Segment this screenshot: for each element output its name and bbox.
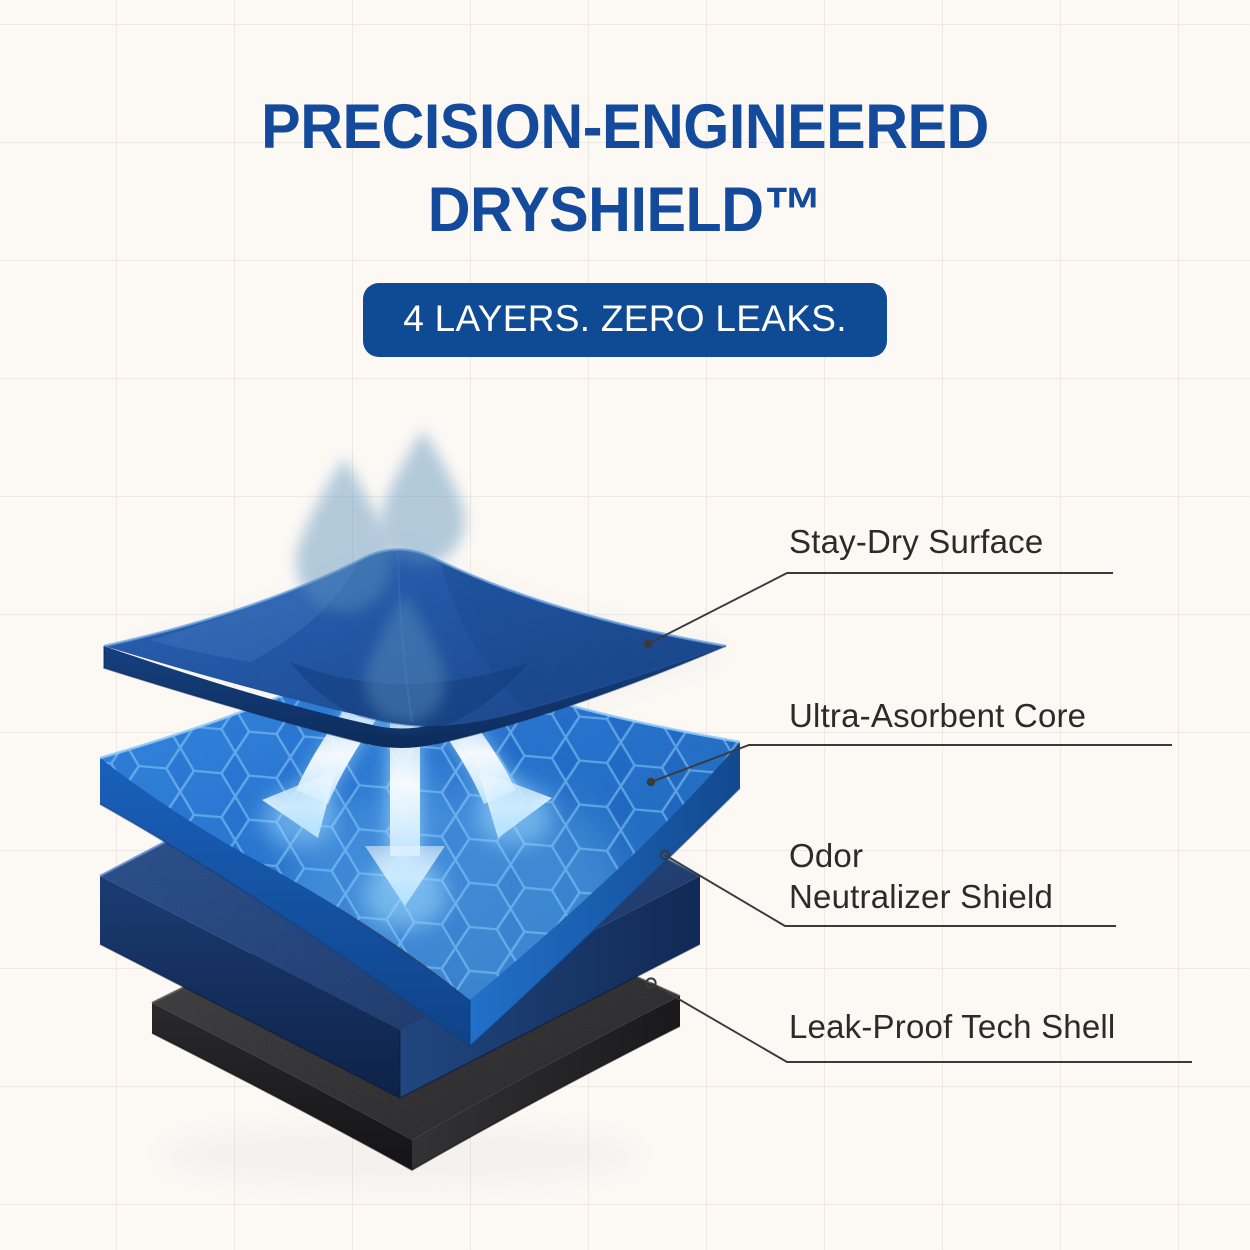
label-stay-dry-surface-text: Stay-Dry Surface <box>789 523 1043 560</box>
label-odor-neutralizer-shield-line1: Odor <box>789 835 1053 876</box>
badge-container: 4 LAYERS. ZERO LEAKS. <box>0 283 1250 357</box>
label-leak-proof-tech-shell: Leak-Proof Tech Shell <box>789 1006 1115 1047</box>
label-odor-neutralizer-shield-line2: Neutralizer Shield <box>789 876 1053 917</box>
label-stay-dry-surface: Stay-Dry Surface <box>789 521 1043 562</box>
label-ultra-absorbent-core-text: Ultra-Asorbent Core <box>789 697 1086 734</box>
label-ultra-absorbent-core: Ultra-Asorbent Core <box>789 695 1086 736</box>
title-line-2: DRYSHIELD™ <box>38 169 1213 252</box>
status-badge: 4 LAYERS. ZERO LEAKS. <box>363 283 887 357</box>
page-title: PRECISION-ENGINEERED DRYSHIELD™ <box>0 86 1250 252</box>
leader-line-stay-dry-surface <box>644 573 1113 648</box>
droplet-top-right <box>379 424 463 558</box>
label-leak-proof-tech-shell-text: Leak-Proof Tech Shell <box>789 1008 1115 1045</box>
title-line-1: PRECISION-ENGINEERED <box>38 86 1213 169</box>
label-odor-neutralizer-shield: Odor Neutralizer Shield <box>789 835 1053 917</box>
droplet-left <box>294 452 390 606</box>
